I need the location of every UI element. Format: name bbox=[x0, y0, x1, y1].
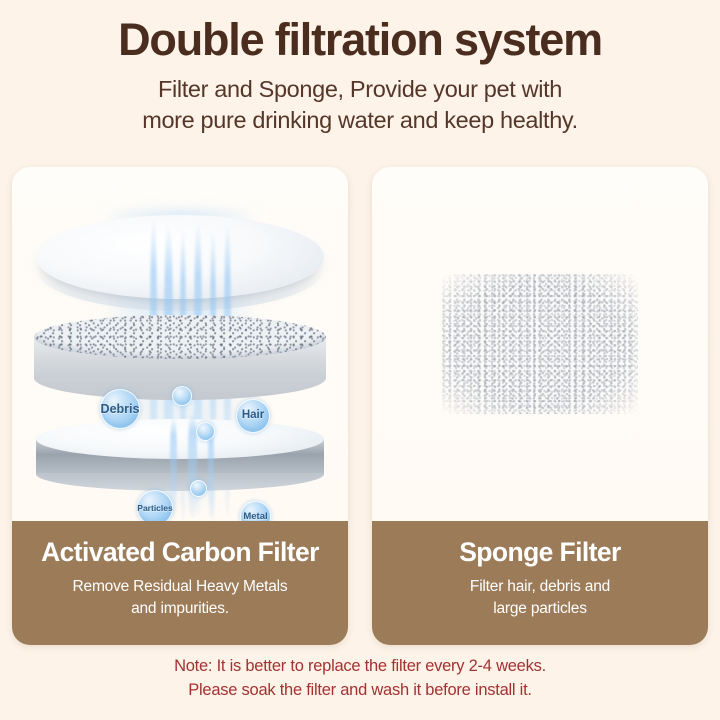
card-description-line-1: Remove Residual Heavy Metals bbox=[12, 576, 348, 597]
feature-cards-row: Debris Hair Particles Metal Dirt Dirt Ac… bbox=[12, 167, 708, 645]
bubble-label: Debris bbox=[101, 403, 140, 416]
card-description-line-2: and impurities. bbox=[12, 598, 348, 619]
bubble-label: Metal bbox=[243, 512, 267, 521]
subtitle-line-1: Filter and Sponge, Provide your pet with bbox=[0, 74, 720, 106]
footer-note: Note: It is better to replace the filter… bbox=[0, 655, 720, 703]
card-description-line-2: large particles bbox=[372, 598, 708, 619]
carbon-filter-illustration: Debris Hair Particles Metal Dirt Dirt bbox=[12, 167, 348, 521]
note-line-2: Please soak the filter and wash it befor… bbox=[0, 679, 720, 703]
card-activated-carbon-filter[interactable]: Debris Hair Particles Metal Dirt Dirt Ac… bbox=[12, 167, 348, 645]
subtitle-line-2: more pure drinking water and keep health… bbox=[0, 105, 720, 137]
card-footer-sponge: Sponge Filter Filter hair, debris and la… bbox=[372, 521, 708, 645]
bubble-label: Hair bbox=[242, 410, 264, 422]
bubble-hair: Hair bbox=[236, 399, 270, 433]
card-description-line-1: Filter hair, debris and bbox=[372, 576, 708, 597]
bubble-plain-2 bbox=[196, 422, 215, 441]
page-title: Double filtration system bbox=[0, 16, 720, 64]
bubble-particles: Particles bbox=[137, 490, 173, 521]
bubble-plain-3 bbox=[190, 480, 207, 497]
bottom-filter-disc bbox=[36, 419, 324, 459]
card-description: Remove Residual Heavy Metals and impurit… bbox=[12, 576, 348, 619]
note-line-1: Note: It is better to replace the filter… bbox=[0, 655, 720, 679]
header: Double filtration system Filter and Spon… bbox=[0, 0, 720, 137]
card-sponge-filter[interactable]: Sponge Filter Filter hair, debris and la… bbox=[372, 167, 708, 645]
filter-disc-stack: Debris Hair Particles Metal Dirt Dirt bbox=[12, 167, 348, 521]
sponge-filter-illustration bbox=[372, 167, 708, 521]
bubble-debris: Debris bbox=[100, 389, 140, 429]
carbon-granule-texture bbox=[34, 315, 326, 359]
card-footer-activated-carbon: Activated Carbon Filter Remove Residual … bbox=[12, 521, 348, 645]
bubble-metal: Metal bbox=[240, 501, 271, 521]
bubble-plain-1 bbox=[172, 386, 192, 406]
card-title: Sponge Filter bbox=[372, 538, 708, 567]
page-subtitle: Filter and Sponge, Provide your pet with… bbox=[0, 74, 720, 137]
sponge-block bbox=[442, 274, 638, 414]
card-title: Activated Carbon Filter bbox=[12, 538, 348, 567]
card-description: Filter hair, debris and large particles bbox=[372, 576, 708, 619]
carbon-filter-disc bbox=[34, 315, 326, 359]
bubble-label: Particles bbox=[137, 504, 172, 513]
